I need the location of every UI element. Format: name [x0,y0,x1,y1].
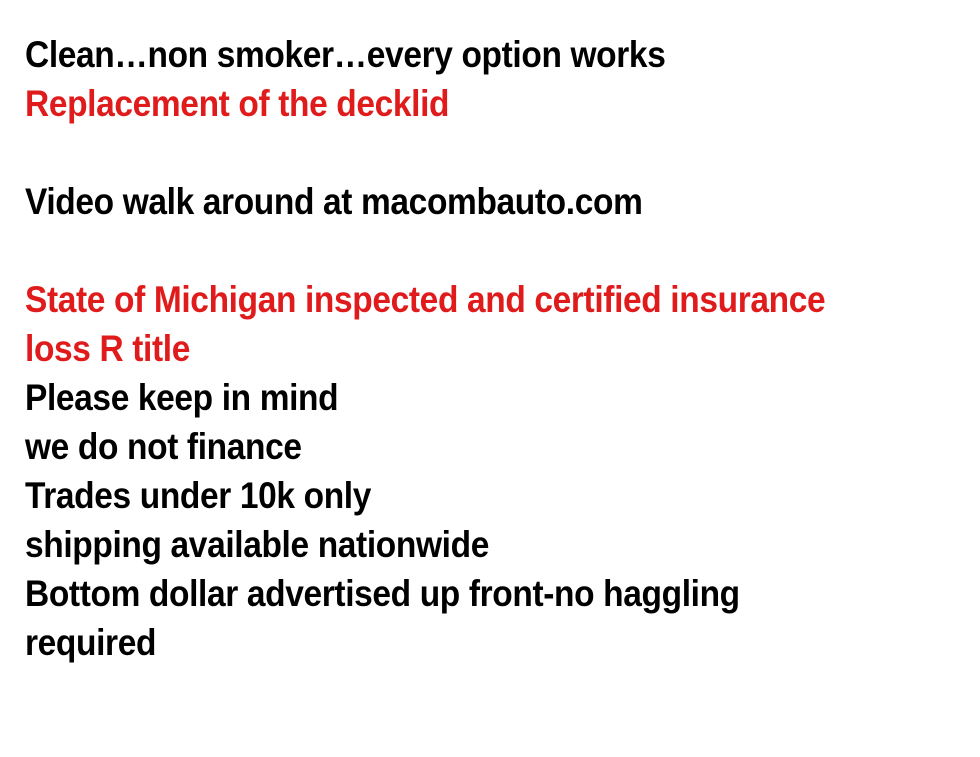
description-line: Video walk around at macombauto.com [25,177,889,226]
description-line: Replacement of the decklid [25,79,889,128]
listing-description-panel: Clean…non smoker…every option worksRepla… [0,0,980,757]
description-line: required [25,618,889,667]
description-line: loss R title [25,324,889,373]
blank-line [25,128,889,177]
description-line: State of Michigan inspected and certifie… [25,275,889,324]
description-line: we do not finance [25,422,889,471]
description-line: Trades under 10k only [25,471,889,520]
description-line: Clean…non smoker…every option works [25,30,889,79]
description-line: Please keep in mind [25,373,889,422]
description-line: Bottom dollar advertised up front-no hag… [25,569,889,618]
description-text-block: Clean…non smoker…every option worksRepla… [25,30,980,667]
blank-line [25,226,889,275]
description-line: shipping available nationwide [25,520,889,569]
